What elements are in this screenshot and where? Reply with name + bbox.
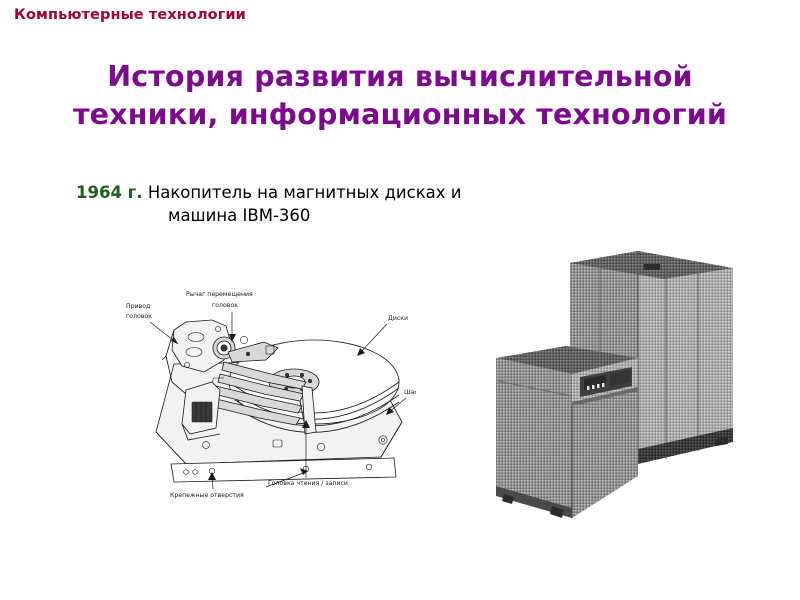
label-actuator-2: головок [126, 313, 152, 320]
label-disks: Диски [388, 315, 408, 322]
slide-caption: 1964 г. Накопитель на магнитных дисках и… [76, 182, 546, 228]
page-title-line-1: История развития вычислительной [18, 58, 782, 96]
label-rw-head: Головка чтения / записи [268, 480, 348, 487]
page-title: История развития вычислительной техники,… [18, 58, 782, 133]
label-arm-2: головок [212, 302, 238, 309]
label-mount-holes: Крепежные отверстия [170, 492, 244, 499]
label-arm: Рычаг перемещения [186, 291, 253, 298]
label-actuator: Привод [126, 303, 150, 310]
page-title-line-2: техники, информационных технологий [18, 96, 782, 134]
caption-year: 1964 г. [76, 183, 143, 202]
slide-header: Компьютерные технологии [14, 7, 246, 23]
hdd-diagram-image: Привод головок Рычаг перемещения головок… [116, 282, 416, 502]
caption-line-1: 1964 г. Накопитель на магнитных дисках и [76, 182, 546, 205]
ibm-360-photo [488, 246, 768, 536]
caption-text-1: Накопитель на магнитных дисках и [148, 183, 462, 202]
label-chassis: Шасси [404, 389, 416, 396]
caption-line-2: машина IBM-360 [76, 205, 546, 228]
